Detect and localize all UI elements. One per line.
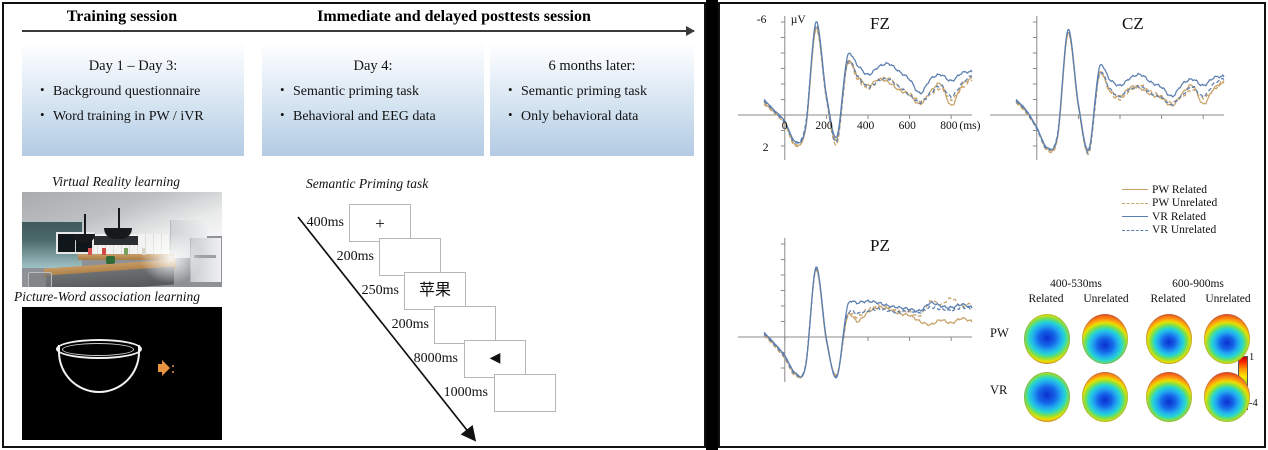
legend-swatch <box>1122 216 1148 217</box>
colorbar-min-label: -4 <box>1249 398 1258 409</box>
topography-maps: 400-530ms 600-900ms Related Unrelated Re… <box>990 278 1260 443</box>
erp-legend: PW Related PW Unrelated VR Related VR Un… <box>1122 183 1252 237</box>
erp-trace <box>764 269 972 378</box>
stimulus-frame-audio: ◀ <box>464 340 526 378</box>
legend-item: VR Unrelated <box>1122 224 1252 238</box>
legend-swatch <box>1122 230 1148 231</box>
topo-condition-label: Related <box>1018 293 1074 305</box>
stimulus-frame-iti <box>494 374 556 412</box>
timeline-arrow <box>22 30 694 32</box>
x-axis-tick-label: 600 <box>899 120 916 132</box>
frame-duration: 400ms <box>294 215 344 231</box>
list-item: Semantic priming task <box>506 83 684 101</box>
topography-head <box>1082 314 1128 364</box>
y-axis-bottom-label: 2 <box>763 142 769 154</box>
list-item: Semantic priming task <box>278 83 474 101</box>
stimulus-frame-prime-word: 苹果 <box>404 272 466 310</box>
erp-plot-cz: CZ <box>982 10 1232 180</box>
erp-canvas <box>730 10 980 180</box>
topography-head <box>1146 372 1192 422</box>
x-axis-tick-label: 800 <box>940 120 957 132</box>
y-axis-top-label: -6 <box>757 14 767 26</box>
pw-learning-caption: Picture-Word association learning <box>14 289 200 305</box>
frame-duration: 200ms <box>379 317 429 333</box>
legend-label: VR Related <box>1152 211 1206 223</box>
phase-item-list: Semantic priming task Behavioral and EEG… <box>272 83 474 125</box>
left-panel: Training session Immediate and delayed p… <box>2 2 706 448</box>
erp-trace <box>1016 30 1224 150</box>
y-axis-unit-label: µV <box>791 14 806 26</box>
legend-item: PW Related <box>1122 183 1252 197</box>
topo-condition-label: Related <box>1140 293 1196 305</box>
posttest-session-title: Immediate and delayed posttests session <box>229 8 679 26</box>
legend-label: PW Related <box>1152 184 1207 196</box>
frame-duration: 8000ms <box>402 351 458 367</box>
stimulus-frame-fixation: + <box>349 204 411 242</box>
list-item: Behavioral and EEG data <box>278 108 474 126</box>
phase-item-list: Background questionnaire Word training i… <box>32 83 234 125</box>
picture-word-stimulus <box>22 307 222 440</box>
topography-head <box>1082 372 1128 422</box>
phase-item-list: Semantic priming task Only behavioral da… <box>500 83 684 125</box>
figure-root: Training session Immediate and delayed p… <box>0 0 1268 450</box>
x-axis-tick-label: 400 <box>857 120 874 132</box>
legend-item: PW Unrelated <box>1122 197 1252 211</box>
phase-box-day1-3: Day 1 – Day 3: Background questionnaire … <box>22 44 244 156</box>
vr-kitchen-screenshot <box>22 192 222 287</box>
semantic-priming-sequence: + 400ms 200ms 苹果 250ms 200ms ◀ 8000ms 10… <box>294 199 594 444</box>
erp-trace <box>1016 31 1224 153</box>
colorbar-max-label: 1 <box>1249 352 1254 363</box>
legend-item: VR Related <box>1122 210 1252 224</box>
stimulus-frame-blank1 <box>379 238 441 276</box>
topo-row-label-vr: VR <box>990 383 1007 398</box>
legend-label: VR Unrelated <box>1152 224 1216 236</box>
topo-row-label-pw: PW <box>990 326 1009 341</box>
erp-trace <box>764 270 972 377</box>
frame-content: ◀ <box>490 352 501 366</box>
list-item: Word training in PW / iVR <box>38 108 234 126</box>
erp-plot-pz: PZ <box>730 232 980 402</box>
topo-condition-label: Unrelated <box>1076 293 1136 305</box>
phase-title: Day 1 – Day 3: <box>32 58 234 75</box>
erp-trace <box>764 269 972 377</box>
topography-head <box>1204 372 1250 422</box>
training-session-title: Training session <box>22 8 222 26</box>
erp-canvas <box>730 232 980 402</box>
topography-head <box>1024 314 1070 364</box>
topo-window-label: 600-900ms <box>1140 278 1256 290</box>
vr-learning-caption: Virtual Reality learning <box>52 174 180 190</box>
x-axis-tick-label: 200 <box>815 120 832 132</box>
list-item: Background questionnaire <box>38 83 234 101</box>
panel-divider <box>706 0 718 450</box>
topography-head <box>1204 314 1250 364</box>
frame-content: + <box>375 215 385 232</box>
phase-box-6months: 6 months later: Semantic priming task On… <box>490 44 694 156</box>
x-axis-unit-label: (ms) <box>959 120 980 132</box>
frame-duration: 1000ms <box>432 385 488 401</box>
topo-condition-label: Unrelated <box>1198 293 1258 305</box>
phase-title: 6 months later: <box>500 58 684 75</box>
x-axis-tick-label: 0 <box>782 120 788 132</box>
frame-duration: 200ms <box>324 249 374 265</box>
list-item: Only behavioral data <box>506 108 684 126</box>
erp-trace <box>1016 33 1224 152</box>
frame-duration: 250ms <box>349 283 399 299</box>
erp-trace <box>764 267 972 378</box>
semantic-priming-caption: Semantic Priming task <box>306 176 428 192</box>
topography-head <box>1024 372 1070 422</box>
legend-swatch <box>1122 189 1148 190</box>
phase-title: Day 4: <box>272 58 474 75</box>
topo-window-label: 400-530ms <box>1018 278 1134 290</box>
erp-plot-fz: FZ -6µV20200400600800(ms) <box>730 10 980 180</box>
legend-swatch <box>1122 203 1148 204</box>
erp-canvas <box>982 10 1232 180</box>
legend-label: PW Unrelated <box>1152 197 1217 209</box>
stimulus-frame-blank2 <box>434 306 496 344</box>
frame-content: 苹果 <box>419 283 451 299</box>
topography-head <box>1146 314 1192 364</box>
phase-box-day4: Day 4: Semantic priming task Behavioral … <box>262 44 484 156</box>
